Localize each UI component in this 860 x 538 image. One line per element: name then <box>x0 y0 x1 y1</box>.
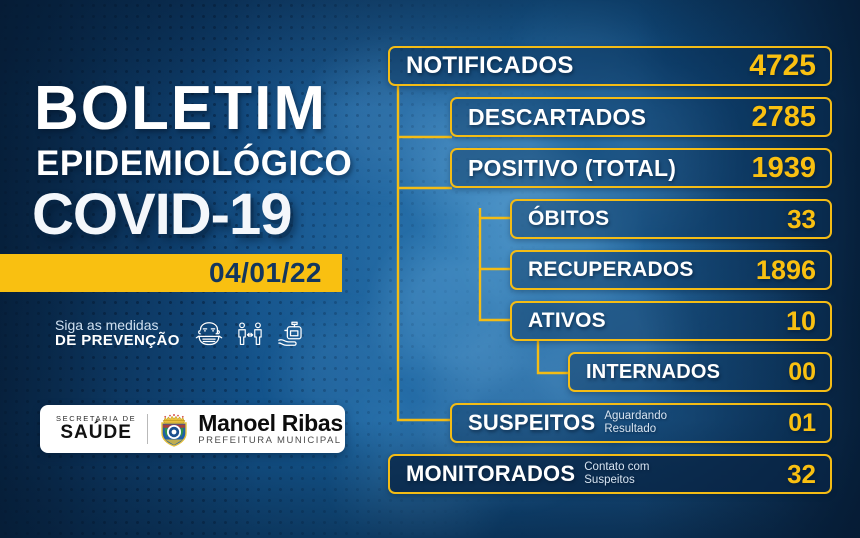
stat-row: RECUPERADOS1896 <box>510 250 832 290</box>
headline-panel: BOLETIM EPIDEMIOLÓGICO COVID-19 04/01/22… <box>0 0 380 538</box>
stat-label: SUSPEITOS <box>468 410 595 436</box>
prevention-notice: Siga as medidas DE PREVENÇÃO <box>55 318 306 350</box>
stat-value: 01 <box>788 409 816 438</box>
bulletin-date: 04/01/22 <box>209 259 342 287</box>
stat-row: MONITORADOSContato comSuspeitos32 <box>388 454 832 494</box>
stat-row: INTERNADOS00 <box>568 352 832 392</box>
logo-bar: SECRETARIA DE SAÚDE <box>40 405 345 453</box>
stat-row: DESCARTADOS2785 <box>450 97 832 137</box>
social-distancing-icon <box>235 319 265 349</box>
logo-divider <box>147 414 148 444</box>
stat-row: POSITIVO (TOTAL)1939 <box>450 148 832 188</box>
secretaria-label-bottom: SAÚDE <box>56 423 136 443</box>
date-banner: 04/01/22 <box>0 254 342 292</box>
face-mask-icon <box>194 319 224 349</box>
city-name: Manoel Ribas <box>198 412 343 436</box>
stat-value: 32 <box>787 459 816 490</box>
municipal-coat-of-arms-icon <box>159 411 189 447</box>
stat-value: 4725 <box>749 49 816 83</box>
stat-label: NOTIFICADOS <box>406 52 574 80</box>
stat-label: ATIVOS <box>528 309 606 333</box>
stat-value: 2785 <box>751 101 816 134</box>
page-title-epidemiologico: EPIDEMIOLÓGICO <box>36 146 352 181</box>
stat-row: SUSPEITOSAguardandoResultado01 <box>450 403 832 443</box>
city-logo: Manoel Ribas PREFEITURA MUNICIPAL <box>198 412 343 445</box>
stat-row: NOTIFICADOS4725 <box>388 46 832 86</box>
prevention-text: Siga as medidas DE PREVENÇÃO <box>55 318 180 350</box>
stat-label: RECUPERADOS <box>528 258 694 282</box>
page-title-covid19: COVID-19 <box>32 186 292 244</box>
stat-value: 33 <box>787 204 816 235</box>
stat-row: ATIVOS10 <box>510 301 832 341</box>
stat-label: DESCARTADOS <box>468 104 646 131</box>
statistics-tree: NOTIFICADOS4725DESCARTADOS2785POSITIVO (… <box>380 0 860 538</box>
stat-value: 1939 <box>751 152 816 185</box>
stat-row: ÓBITOS33 <box>510 199 832 239</box>
stat-value: 00 <box>788 358 816 387</box>
stat-sublabel: AguardandoResultado <box>604 410 667 436</box>
secretaria-saude-logo: SECRETARIA DE SAÚDE <box>40 415 136 443</box>
stat-label: ÓBITOS <box>528 207 609 231</box>
stat-label: INTERNADOS <box>586 361 720 384</box>
city-subtitle: PREFEITURA MUNICIPAL <box>198 436 343 446</box>
hand-sanitizer-icon <box>276 319 306 349</box>
prevention-label-line2: DE PREVENÇÃO <box>55 333 180 350</box>
prevention-icon-group <box>194 319 306 349</box>
covid-bulletin-poster: BOLETIM EPIDEMIOLÓGICO COVID-19 04/01/22… <box>0 0 860 538</box>
stat-value: 10 <box>786 306 816 337</box>
stat-value: 1896 <box>756 255 816 286</box>
page-title-boletim: BOLETIM <box>34 78 327 140</box>
stat-sublabel: Contato comSuspeitos <box>584 461 649 487</box>
stat-label: POSITIVO (TOTAL) <box>468 155 676 182</box>
stat-label: MONITORADOS <box>406 461 575 487</box>
